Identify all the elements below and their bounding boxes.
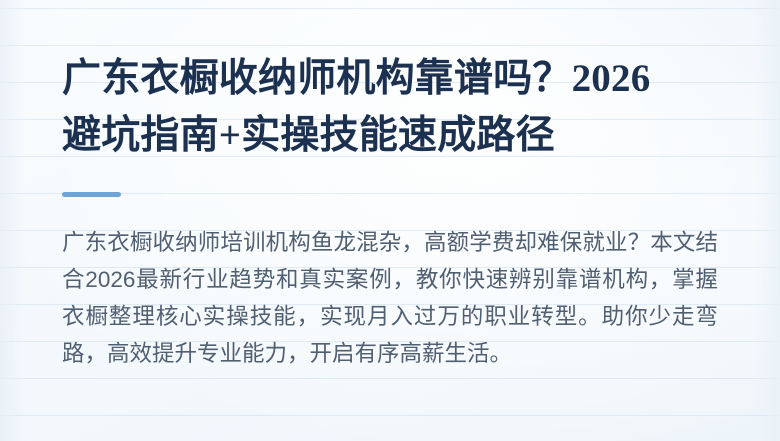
page-title: 广东衣橱收纳师机构靠谱吗？2026 避坑指南+实操技能速成路径 xyxy=(62,0,718,164)
article-summary: 广东衣橱收纳师培训机构鱼龙混杂，高额学费却难保就业？本文结合2026最新行业趋势… xyxy=(62,197,718,372)
page-title-line-1: 广东衣橱收纳师机构靠谱吗？2026 xyxy=(62,50,718,107)
page-title-line-2: 避坑指南+实操技能速成路径 xyxy=(62,107,718,164)
content-wrapper: 广东衣橱收纳师机构靠谱吗？2026 避坑指南+实操技能速成路径 广东衣橱收纳师培… xyxy=(0,0,780,372)
article-cover-card: 广东衣橱收纳师机构靠谱吗？2026 避坑指南+实操技能速成路径 广东衣橱收纳师培… xyxy=(0,0,780,441)
